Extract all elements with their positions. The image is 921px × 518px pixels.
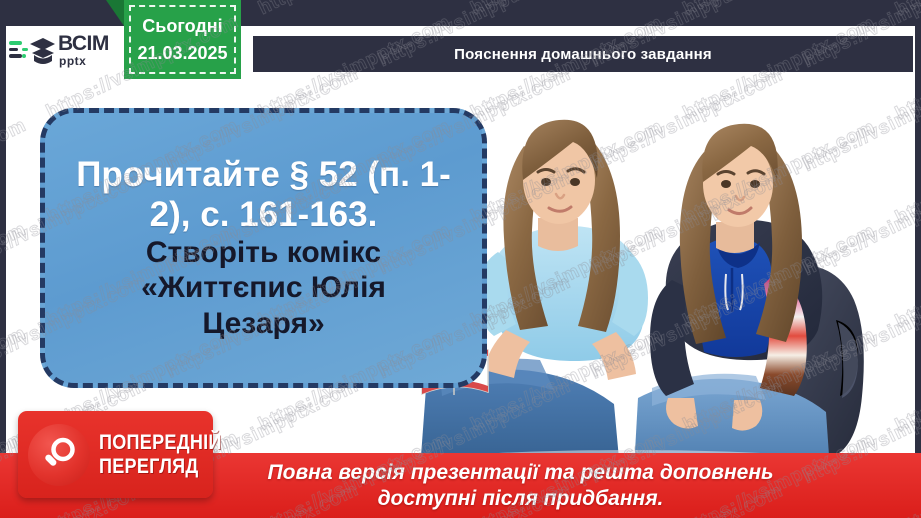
logo-subtitle: pptx: [59, 54, 86, 68]
today-date-badge: Сьогодні 21.03.2025: [124, 0, 241, 79]
vsimpptx-logo[interactable]: ВСІМ pptx: [8, 28, 118, 74]
date-badge-value: 21.03.2025: [137, 40, 227, 66]
graduation-cap-icon: [8, 31, 56, 71]
magnifier-icon: [28, 424, 90, 486]
preview-badge[interactable]: ПОПЕРЕДНІЙ ПЕРЕГЛЯД: [18, 411, 213, 498]
purchase-notice-line-2: доступні після придбання.: [268, 486, 774, 512]
preview-badge-line-2: ПЕРЕГЛЯД: [99, 456, 222, 477]
task-line-5: Цезаря»: [57, 307, 470, 341]
task-line-4: «Життєпис Юлія: [57, 271, 470, 305]
purchase-notice-line-1: Повна версія презентації та решта доповн…: [268, 460, 774, 486]
frame-left-band: [0, 0, 6, 470]
slide-header-bar: Пояснення домашнього завдання: [253, 36, 913, 72]
task-line-1: Прочитайте § 52 (п. 1-: [57, 155, 470, 194]
preview-badge-line-1: ПОПЕРЕДНІЙ: [99, 432, 222, 453]
purchase-notice-text: Повна версія презентації та решта доповн…: [268, 460, 774, 511]
frame-right-band: [915, 0, 921, 470]
students-photo: [420, 72, 915, 470]
task-box: Прочитайте § 52 (п. 1- 2), с. 161-163. С…: [40, 108, 487, 388]
preview-badge-label: ПОПЕРЕДНІЙ ПЕРЕГЛЯД: [99, 432, 242, 477]
logo-title: ВСІМ: [58, 32, 109, 55]
task-line-3: Створіть комікс: [57, 236, 470, 270]
date-badge-label: Сьогодні: [142, 13, 222, 39]
task-line-2: 2), с. 161-163.: [57, 195, 470, 234]
page-title: Пояснення домашнього завдання: [454, 46, 712, 63]
logo-wordmark: ВСІМ pptx: [58, 34, 109, 68]
slide-root: Прочитайте § 52 (п. 1- 2), с. 161-163. С…: [0, 0, 921, 518]
